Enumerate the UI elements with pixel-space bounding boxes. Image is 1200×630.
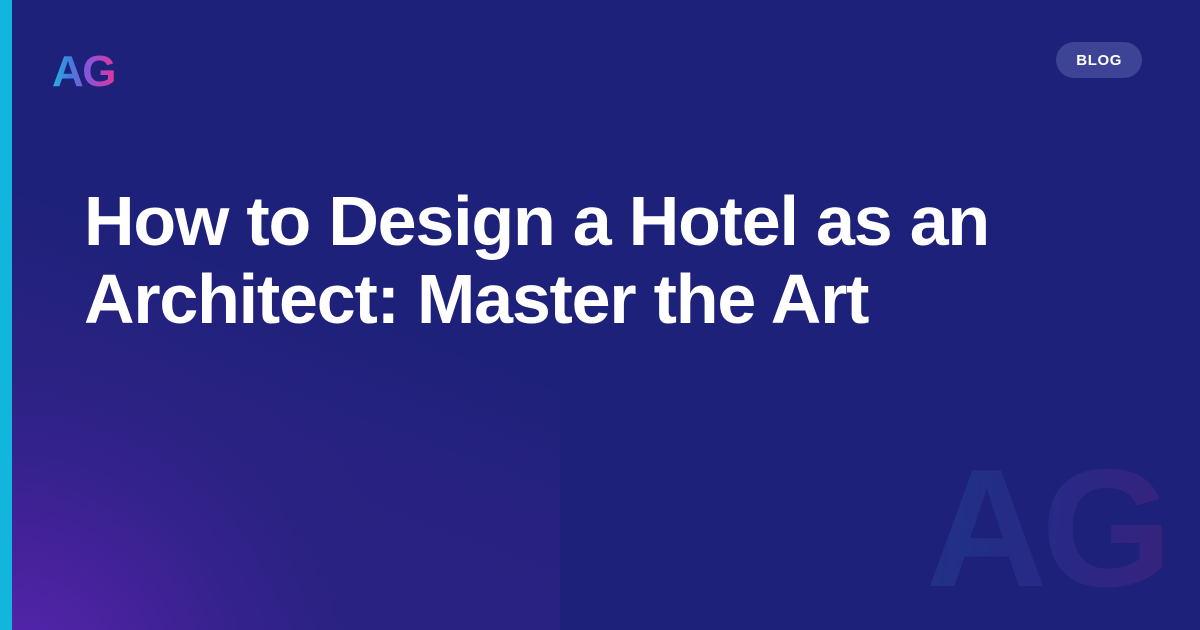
left-accent-bar: [0, 0, 12, 630]
blog-share-card: AG BLOG How to Design a Hotel as an Arch…: [0, 0, 1200, 630]
page-title-line-2: Architect: Master the Art: [84, 260, 868, 338]
brand-watermark-ag: AG: [926, 444, 1166, 612]
purple-glow-decoration: [0, 70, 640, 630]
page-title: How to Design a Hotel as an Architect: M…: [84, 182, 1084, 339]
category-badge-blog[interactable]: BLOG: [1056, 42, 1142, 78]
brand-logo[interactable]: AG: [52, 50, 115, 94]
page-title-line-1: How to Design a Hotel as an: [84, 182, 989, 260]
